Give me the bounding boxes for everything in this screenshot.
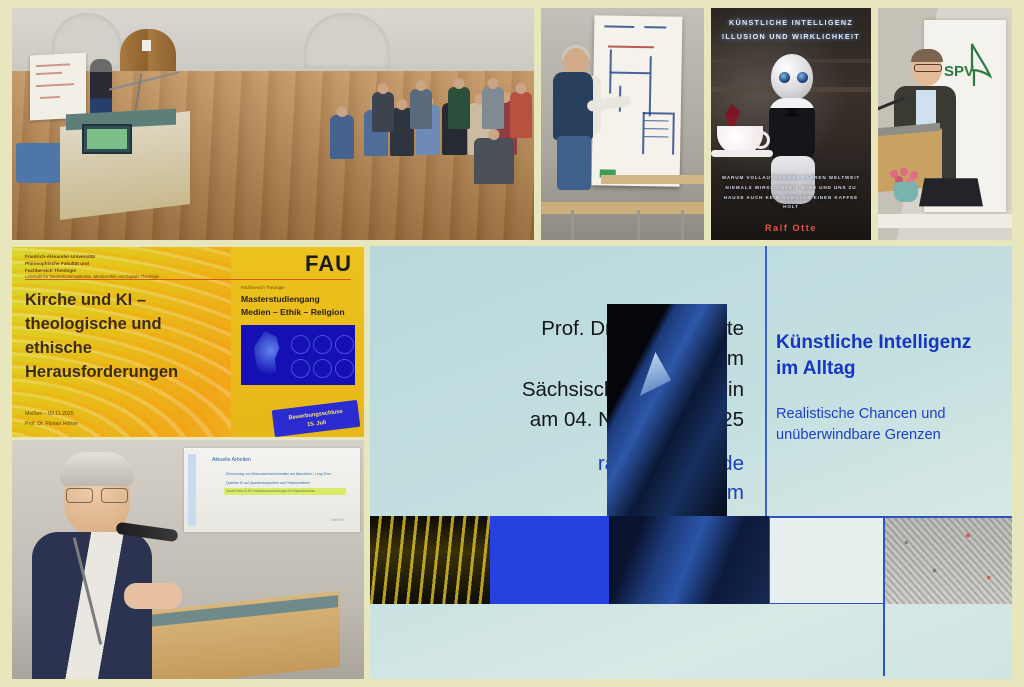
- slide-bullet: Smart Data KI für Industrieanwendungen i…: [226, 489, 315, 493]
- fau-logo: FAU: [305, 251, 352, 277]
- eyeglasses: [66, 488, 128, 501]
- slide-corner-note: Otte/Otte: [330, 518, 344, 522]
- table: [878, 214, 1012, 228]
- speaker: [20, 458, 180, 679]
- projected-title-slide: Prof. Dr.-Ing. Ralf Otte zu Gast beim Sä…: [370, 246, 1012, 679]
- slide-title-line-2: im Alltag: [776, 356, 1006, 382]
- table-front: [541, 202, 704, 214]
- photo-lecture-hall-audience: [12, 8, 534, 240]
- slide-horizontal-rule: [769, 516, 1012, 518]
- band-blue-fabric-photo: [609, 516, 769, 604]
- book-subtitle: WARUM VOLLAUTONOMES FAHREN WELTWEIT NIEM…: [717, 173, 865, 212]
- laptop: [82, 124, 132, 154]
- canyon-photo: [607, 304, 727, 517]
- ai-head-graphic: [241, 325, 355, 385]
- audience-member: [482, 87, 504, 129]
- hands: [124, 583, 182, 609]
- slide-right-heading: Künstliche Intelligenz im Alltag Realist…: [776, 330, 1006, 445]
- audience-member: [410, 89, 432, 129]
- application-deadline-badge: Bewerbungsschluss 15. Juli: [272, 400, 361, 437]
- slide-vertical-rule: [765, 246, 767, 516]
- table-back: [601, 175, 704, 184]
- department-label: Fachbereich Theologie: [241, 285, 285, 290]
- laptop: [919, 178, 983, 206]
- hall-door: [120, 29, 176, 73]
- canyon-light-shaft: [637, 352, 671, 396]
- slide-vertical-rule-lower: [883, 516, 885, 676]
- header-divider: [25, 279, 351, 280]
- presenter: [553, 48, 601, 188]
- slide-bullet: Erforschung von Bewusstseinsmerkmalen au…: [226, 472, 331, 476]
- photo-collage: KÜNSTLICHE INTELLIGENZ ILLUSION UND WIRK…: [0, 0, 1024, 687]
- audience-member: [474, 138, 514, 184]
- poster-fau-lecture-announcement: Fachbereich Theologie Masterstudiengang …: [12, 247, 364, 437]
- audience-member: [372, 92, 394, 132]
- audience-member: [448, 87, 470, 129]
- photo-speaker-at-flipchart: [541, 8, 704, 240]
- audience-member: [510, 92, 532, 138]
- slide-sidebar: [188, 454, 196, 526]
- flipchart-board: [30, 53, 86, 121]
- slide-title-line-1: Künstliche Intelligenz: [776, 330, 1006, 356]
- photo-book-cover: KÜNSTLICHE INTELLIGENZ ILLUSION UND WIRK…: [711, 8, 871, 240]
- slide-subtitle-line-1: Realistische Chancen und: [776, 404, 1006, 424]
- photo-speaker-spv-banner: SPV: [878, 8, 1012, 240]
- band-blue-block: [490, 516, 609, 604]
- projection-screen: Aktuelle Arbeiten Erforschung von Bewuss…: [184, 448, 360, 532]
- slide-subtitle-line-2: unüberwindbare Grenzen: [776, 425, 1006, 445]
- slide-bullet: Quanten KI auf Quantencomputern und Phot…: [226, 481, 310, 485]
- institution-header: Friedrich-Alexander-Universität Philosop…: [25, 253, 159, 280]
- band-yellow-texture: [370, 516, 490, 604]
- band-microscopy-texture: [883, 516, 1012, 604]
- slide-heading: Aktuelle Arbeiten: [212, 457, 251, 463]
- poster-title: Kirche und KI – theologische und ethisch…: [25, 289, 225, 385]
- book-title: KÜNSTLICHE INTELLIGENZ ILLUSION UND WIRK…: [717, 16, 865, 43]
- book-author: Ralf Otte: [711, 223, 871, 233]
- program-title: Masterstudiengang Medien – Ethik – Relig…: [241, 293, 345, 320]
- poster-footer: Meißen – 03.11.2025 Prof. Dr. Florian Hö…: [25, 410, 78, 429]
- band-white-block: [769, 516, 883, 604]
- tray: [711, 150, 773, 157]
- audience-member: [330, 115, 354, 159]
- photo-speaker-at-lectern: Aktuelle Arbeiten Erforschung von Bewuss…: [12, 440, 364, 679]
